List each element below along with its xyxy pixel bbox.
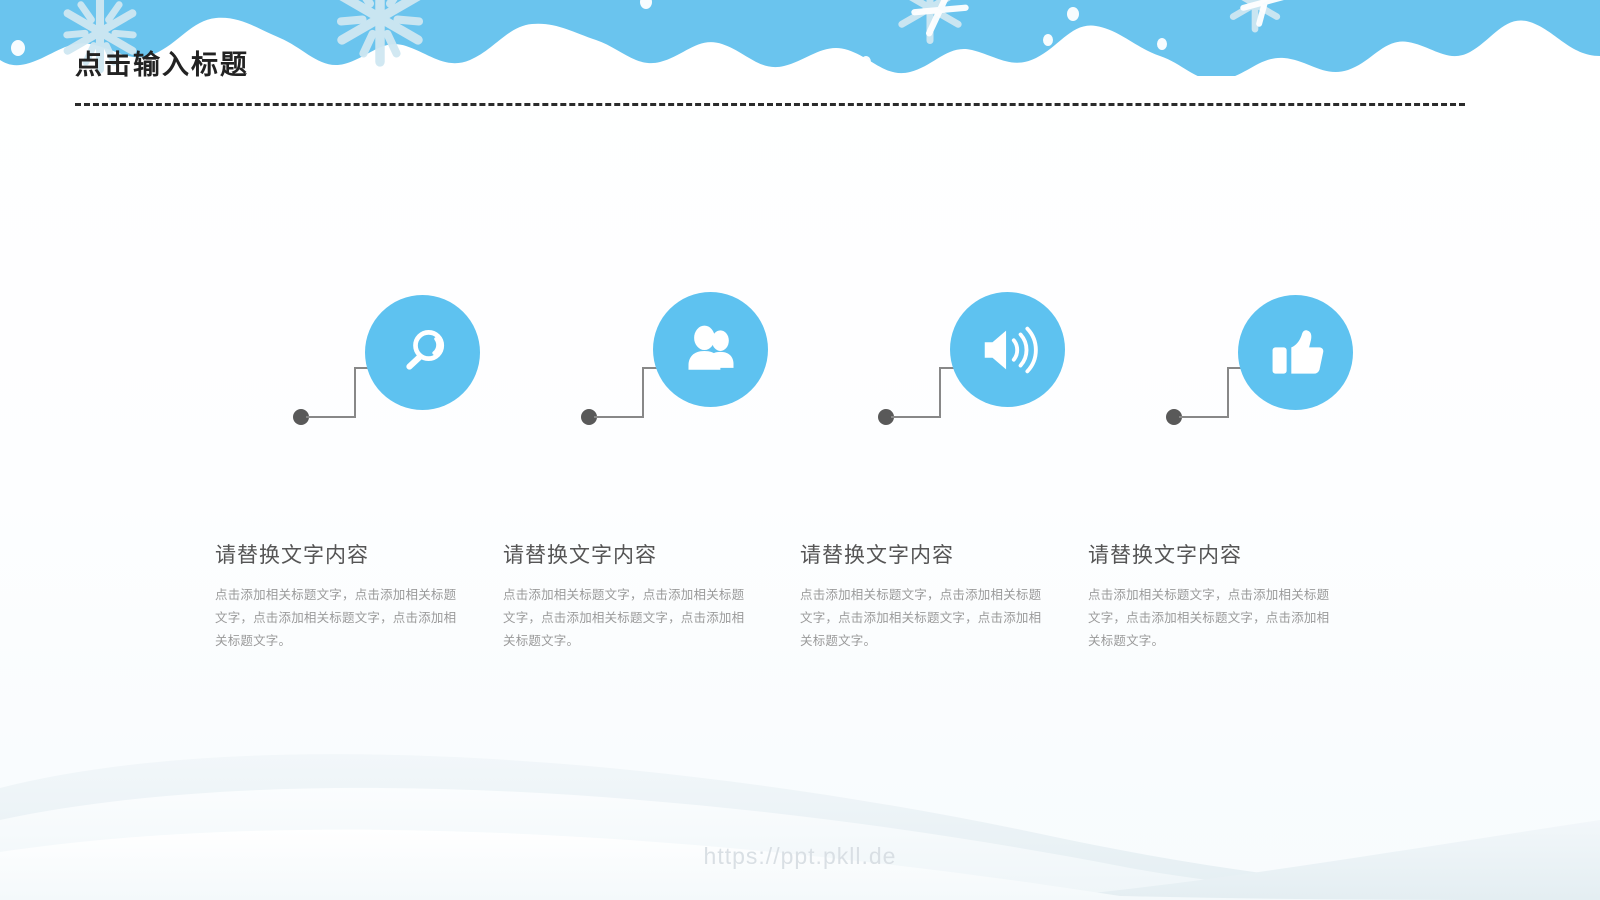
users-icon	[681, 320, 741, 380]
page-title: 点击输入标题	[75, 52, 249, 79]
title-divider	[75, 103, 1465, 106]
item-heading: 请替换文字内容	[800, 543, 1045, 568]
item-heading: 请替换文字内容	[503, 543, 748, 568]
thumbs-up-icon	[1266, 323, 1326, 383]
item-text-3: 请替换文字内容 点击添加相关标题文字，点击添加相关标题文字，点击添加相关标题文字…	[800, 543, 1045, 654]
item-body: 点击添加相关标题文字，点击添加相关标题文字，点击添加相关标题文字，点击添加相关标…	[503, 584, 748, 653]
item-column-3: 请替换文字内容 点击添加相关标题文字，点击添加相关标题文字，点击添加相关标题文字…	[800, 0, 1090, 900]
page-title-wrapper: 点击输入标题	[75, 52, 249, 79]
item-text-2: 请替换文字内容 点击添加相关标题文字，点击添加相关标题文字，点击添加相关标题文字…	[503, 543, 748, 654]
icon-circle-speaker[interactable]	[950, 292, 1065, 407]
slide-canvas: 点击输入标题 请替换文字内容 点击添加相关标题文字，点击添加相关标题文字，点	[0, 0, 1600, 900]
item-text-1: 请替换文字内容 点击添加相关标题文字，点击添加相关标题文字，点击添加相关标题文字…	[215, 543, 460, 654]
search-icon	[393, 323, 453, 383]
item-heading: 请替换文字内容	[1088, 543, 1333, 568]
speaker-icon	[977, 319, 1039, 381]
connector-segment-vertical	[354, 367, 356, 418]
connector-segment-horizontal-lower	[594, 416, 644, 418]
item-column-1: 请替换文字内容 点击添加相关标题文字，点击添加相关标题文字，点击添加相关标题文字…	[215, 0, 505, 900]
items-row: 请替换文字内容 点击添加相关标题文字，点击添加相关标题文字，点击添加相关标题文字…	[0, 0, 1600, 900]
footer-url: https://ppt.pkll.de	[0, 843, 1600, 870]
icon-circle-users[interactable]	[653, 292, 768, 407]
item-body: 点击添加相关标题文字，点击添加相关标题文字，点击添加相关标题文字，点击添加相关标…	[215, 584, 460, 653]
item-body: 点击添加相关标题文字，点击添加相关标题文字，点击添加相关标题文字，点击添加相关标…	[1088, 584, 1333, 653]
item-column-2: 请替换文字内容 点击添加相关标题文字，点击添加相关标题文字，点击添加相关标题文字…	[503, 0, 793, 900]
item-heading: 请替换文字内容	[215, 543, 460, 568]
connector-segment-vertical	[1227, 367, 1229, 418]
connector-segment-horizontal-lower	[306, 416, 356, 418]
item-text-4: 请替换文字内容 点击添加相关标题文字，点击添加相关标题文字，点击添加相关标题文字…	[1088, 543, 1333, 654]
connector-segment-vertical	[939, 367, 941, 418]
connector-segment-horizontal-lower	[891, 416, 941, 418]
icon-circle-thumbs-up[interactable]	[1238, 295, 1353, 410]
connector-segment-vertical	[642, 367, 644, 418]
connector-segment-horizontal-lower	[1179, 416, 1229, 418]
item-body: 点击添加相关标题文字，点击添加相关标题文字，点击添加相关标题文字，点击添加相关标…	[800, 584, 1045, 653]
icon-circle-search[interactable]	[365, 295, 480, 410]
item-column-4: 请替换文字内容 点击添加相关标题文字，点击添加相关标题文字，点击添加相关标题文字…	[1088, 0, 1378, 900]
